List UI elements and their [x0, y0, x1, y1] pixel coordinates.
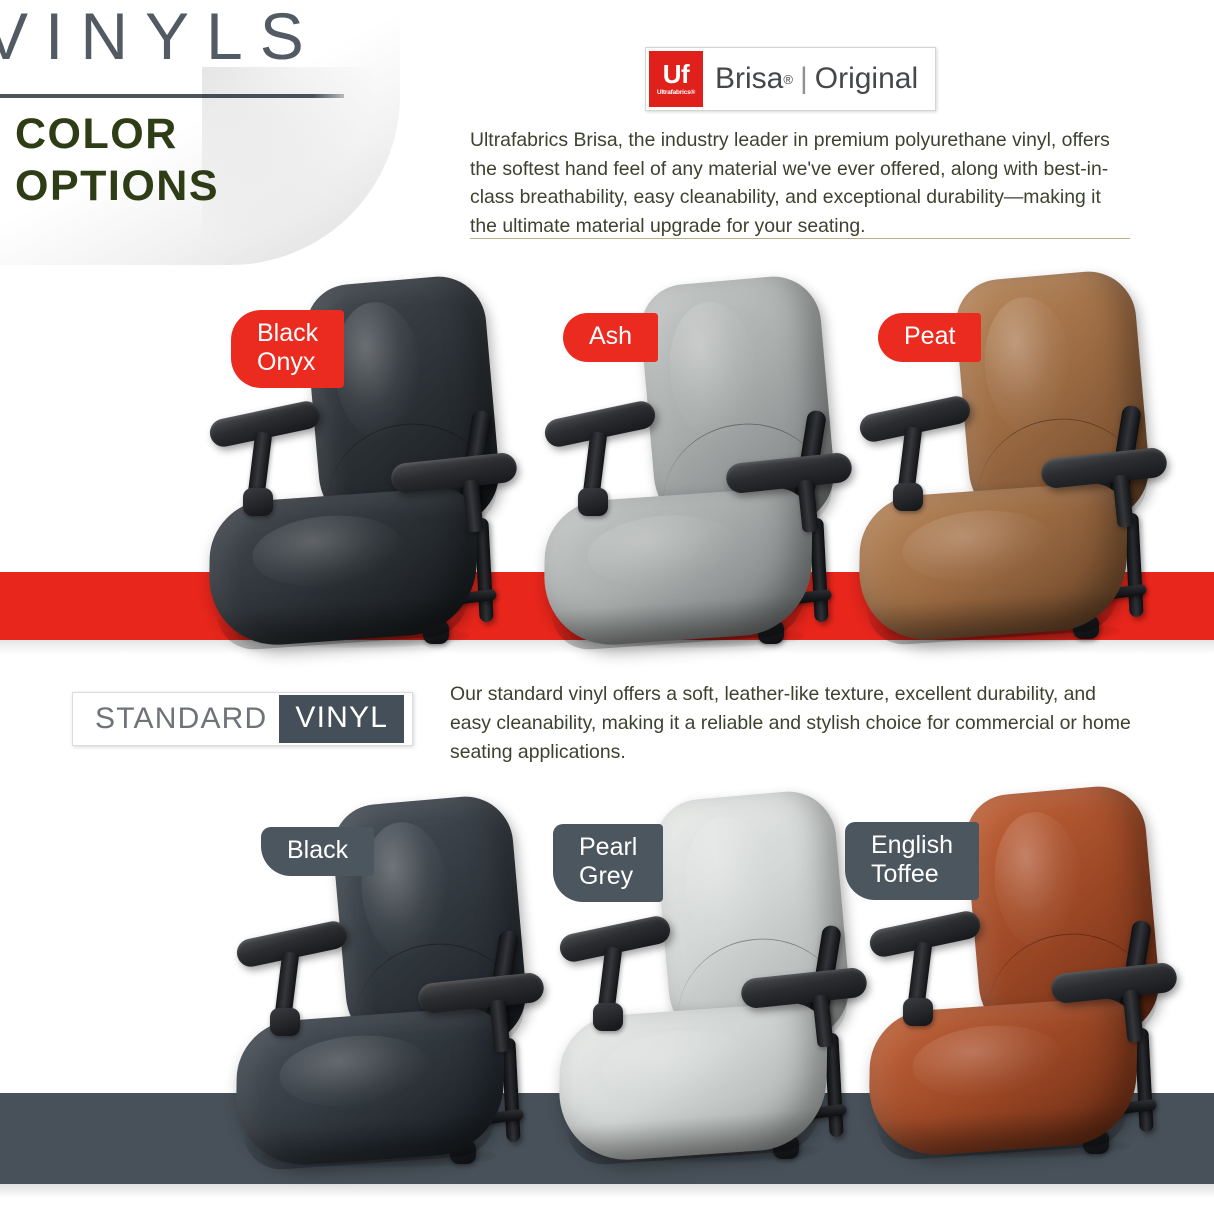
label-peat: Peat: [878, 313, 981, 362]
label-ash: Ash: [563, 313, 658, 362]
label-black: Black: [261, 827, 374, 876]
adjust-lever-secondary: [824, 1033, 843, 1138]
brisa-logo: Uf Ultrafabrics® Brisa®|Original: [645, 47, 936, 111]
standard-vinyl-badge: STANDARD VINYL: [72, 692, 413, 746]
brisa-variant: Original: [815, 62, 918, 96]
armrest-left-joint: [270, 1008, 300, 1036]
seat-highlight: [279, 1031, 430, 1111]
standard-description: Our standard vinyl offers a soft, leathe…: [450, 680, 1140, 767]
adjust-lever-secondary: [474, 518, 493, 623]
adjust-lever-secondary: [501, 1038, 520, 1143]
armrest-left-joint: [593, 1003, 623, 1031]
vinyl-word: VINYL: [279, 695, 404, 743]
registered-mark: ®: [783, 72, 793, 87]
logo-separator: |: [800, 62, 808, 96]
vinyl-color-options-page: VINYLS COLOR OPTIONS Uf Ultrafabrics® Br…: [0, 0, 1214, 1214]
subtitle-line-1: COLOR: [15, 110, 178, 159]
seat-highlight: [602, 1026, 753, 1106]
ultrafabrics-mark-icon: Uf Ultrafabrics®: [649, 51, 703, 107]
backrest-highlight: [979, 294, 1077, 439]
label-pearl-grey: Pearl Grey: [553, 824, 663, 902]
uf-monogram: Uf: [663, 62, 689, 87]
armrest-left-joint: [243, 488, 273, 516]
backrest-highlight: [679, 814, 777, 959]
brisa-name: Brisa: [715, 62, 783, 96]
adjust-lever-secondary: [1124, 513, 1143, 618]
ultrafabrics-wordmark: Ultrafabrics®: [657, 89, 695, 96]
adjust-lever-secondary: [809, 518, 828, 623]
label-english-toffee: English Toffee: [845, 822, 979, 900]
adjust-lever-secondary: [1134, 1028, 1153, 1133]
seat-highlight: [252, 511, 403, 591]
standard-word: STANDARD: [81, 702, 279, 736]
backrest-highlight: [664, 299, 762, 444]
seat-highlight: [912, 1021, 1063, 1101]
backrest-highlight: [989, 809, 1087, 954]
subtitle-line-2: OPTIONS: [15, 162, 219, 211]
brisa-description: Ultrafabrics Brisa, the industry leader …: [470, 126, 1130, 240]
brisa-section-divider: [470, 238, 1130, 239]
label-black-onyx: Black Onyx: [231, 310, 344, 388]
brisa-wordmark: Brisa®|Original: [703, 51, 932, 107]
armrest-left-joint: [903, 998, 933, 1026]
armrest-left-joint: [578, 488, 608, 516]
seat-highlight: [902, 506, 1053, 586]
seat-highlight: [587, 511, 738, 591]
title-divider: [0, 94, 344, 98]
page-title: VINYLS: [0, 0, 321, 74]
header-panel: VINYLS COLOR OPTIONS: [0, 0, 400, 265]
armrest-left-joint: [893, 483, 923, 511]
